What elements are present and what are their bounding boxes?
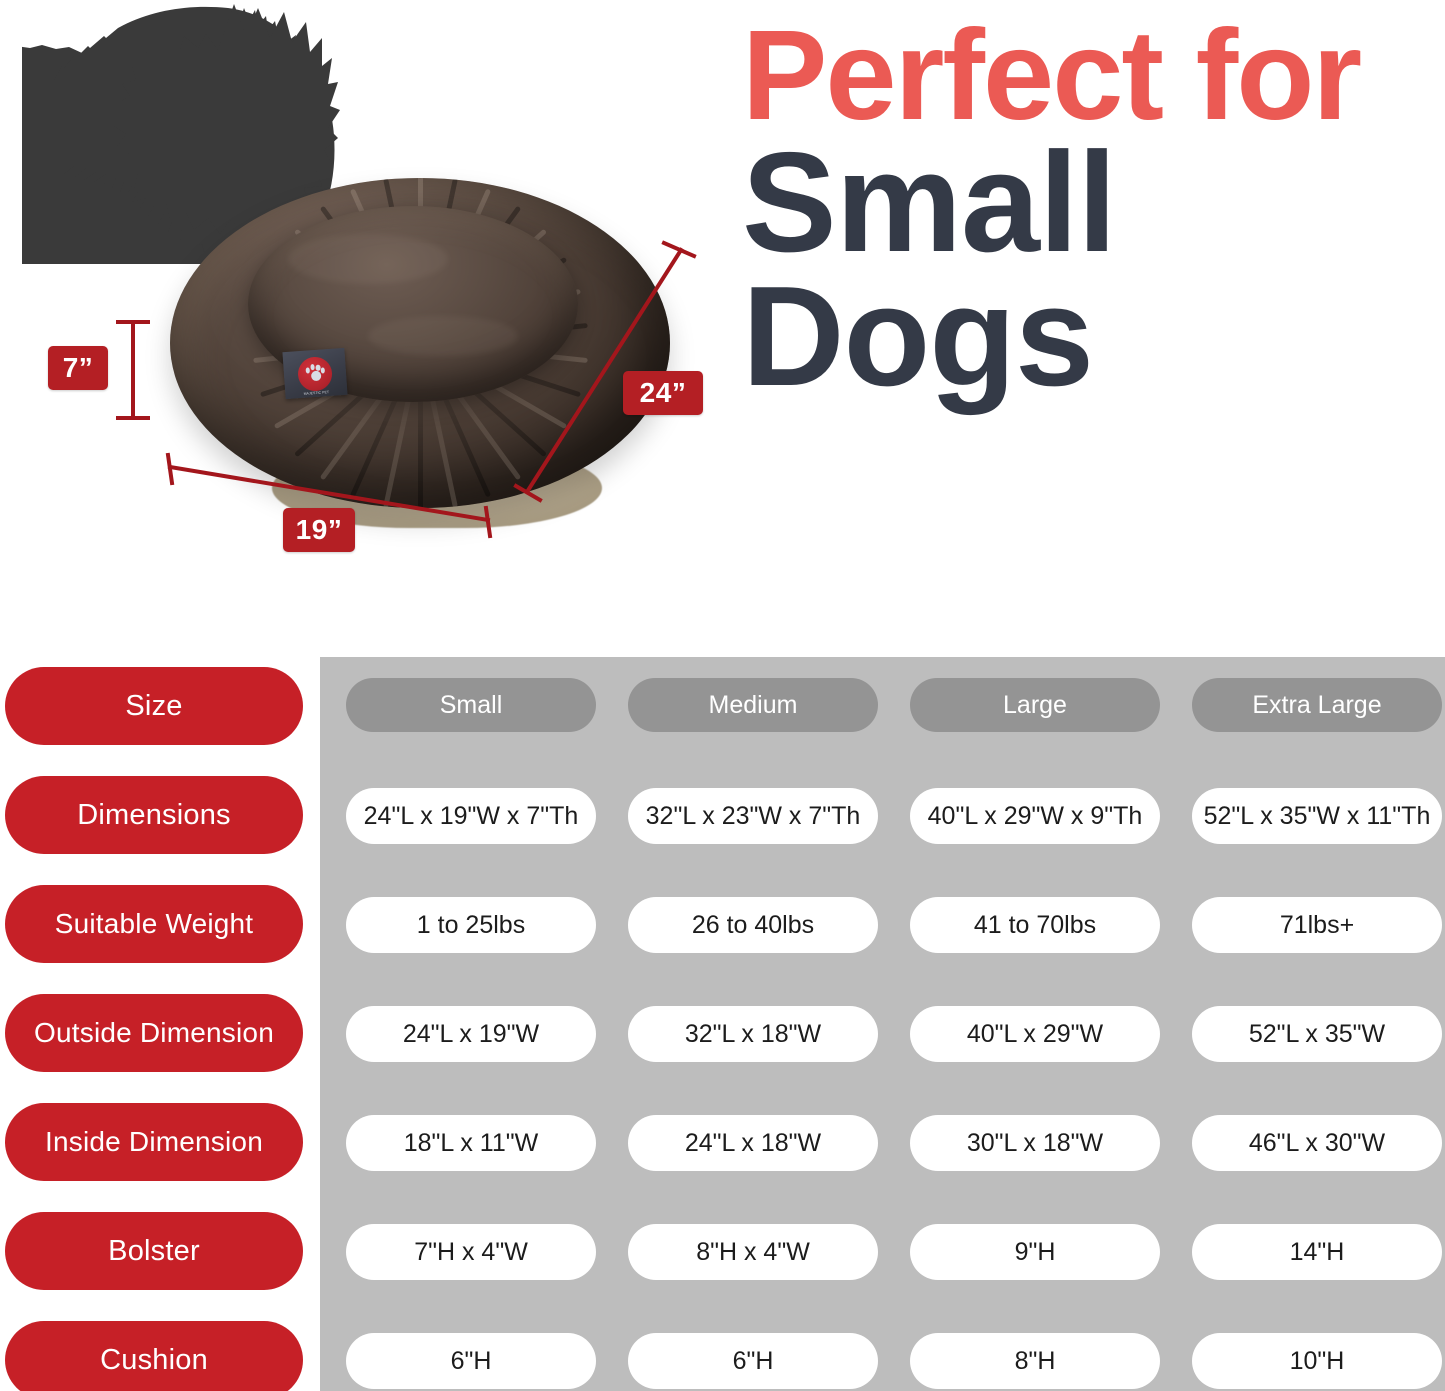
table-cell: 8"H x 4"W	[628, 1224, 878, 1280]
table-cell: 8"H	[910, 1333, 1160, 1389]
table-cell: 24"L x 19"W	[346, 1006, 596, 1062]
dimension-badge-height: 7”	[48, 346, 108, 390]
table-cell: 9"H	[910, 1224, 1160, 1280]
hero-section: MAJESTIC PET 7” 19” 24”	[0, 0, 1445, 645]
headline-line-2: Small	[742, 136, 1442, 269]
row-label-inside-dimension: Inside Dimension	[5, 1103, 303, 1181]
table-cell: 14"H	[1192, 1224, 1442, 1280]
table-cell: 18"L x 11"W	[346, 1115, 596, 1171]
column-header-extra-large: Extra Large	[1192, 678, 1442, 732]
row-label-column: SizeDimensionsSuitable WeightOutside Dim…	[5, 645, 305, 1391]
paw-print-icon	[305, 363, 325, 383]
table-cell: 40"L x 29"W	[910, 1006, 1160, 1062]
column-header-large: Large	[910, 678, 1160, 732]
column-header-medium: Medium	[628, 678, 878, 732]
table-cell: 1 to 25lbs	[346, 897, 596, 953]
dimension-badge-width: 19”	[283, 508, 355, 552]
row-label-dimensions: Dimensions	[5, 776, 303, 854]
table-cell: 40"L x 29"W x 9"Th	[910, 788, 1160, 844]
spec-table-section: SizeDimensionsSuitable WeightOutside Dim…	[0, 645, 1445, 1391]
table-cell: 26 to 40lbs	[628, 897, 878, 953]
table-cell: 71lbs+	[1192, 897, 1442, 953]
table-cell: 7"H x 4"W	[346, 1224, 596, 1280]
brand-logo-icon	[297, 355, 333, 391]
table-cell: 46"L x 30"W	[1192, 1115, 1442, 1171]
table-cell: 24"L x 18"W	[628, 1115, 878, 1171]
column-header-small: Small	[346, 678, 596, 732]
infographic-page: MAJESTIC PET 7” 19” 24”	[0, 0, 1445, 1391]
row-label-size: Size	[5, 667, 303, 745]
brand-tag: MAJESTIC PET	[282, 348, 347, 399]
table-cell: 6"H	[628, 1333, 878, 1389]
table-cell: 41 to 70lbs	[910, 897, 1160, 953]
table-cell: 52"L x 35"W x 11"Th	[1192, 788, 1442, 844]
table-cell: 30"L x 18"W	[910, 1115, 1160, 1171]
dimension-badge-length: 24”	[623, 371, 703, 415]
table-cells-area: SmallMediumLargeExtra Large24"L x 19"W x…	[320, 645, 1445, 1391]
headline: Perfect for Small Dogs	[742, 16, 1442, 403]
row-label-suitable-weight: Suitable Weight	[5, 885, 303, 963]
table-cell: 52"L x 35"W	[1192, 1006, 1442, 1062]
product-photo: MAJESTIC PET	[152, 158, 692, 578]
table-cell: 6"H	[346, 1333, 596, 1389]
table-cell: 32"L x 23"W x 7"Th	[628, 788, 878, 844]
row-label-outside-dimension: Outside Dimension	[5, 994, 303, 1072]
headline-line-1: Perfect for	[742, 16, 1442, 136]
table-cell: 24"L x 19"W x 7"Th	[346, 788, 596, 844]
headline-line-3: Dogs	[742, 270, 1442, 403]
table-cell: 32"L x 18"W	[628, 1006, 878, 1062]
row-label-bolster: Bolster	[5, 1212, 303, 1290]
row-label-cushion: Cushion	[5, 1321, 303, 1391]
table-cell: 10"H	[1192, 1333, 1442, 1389]
